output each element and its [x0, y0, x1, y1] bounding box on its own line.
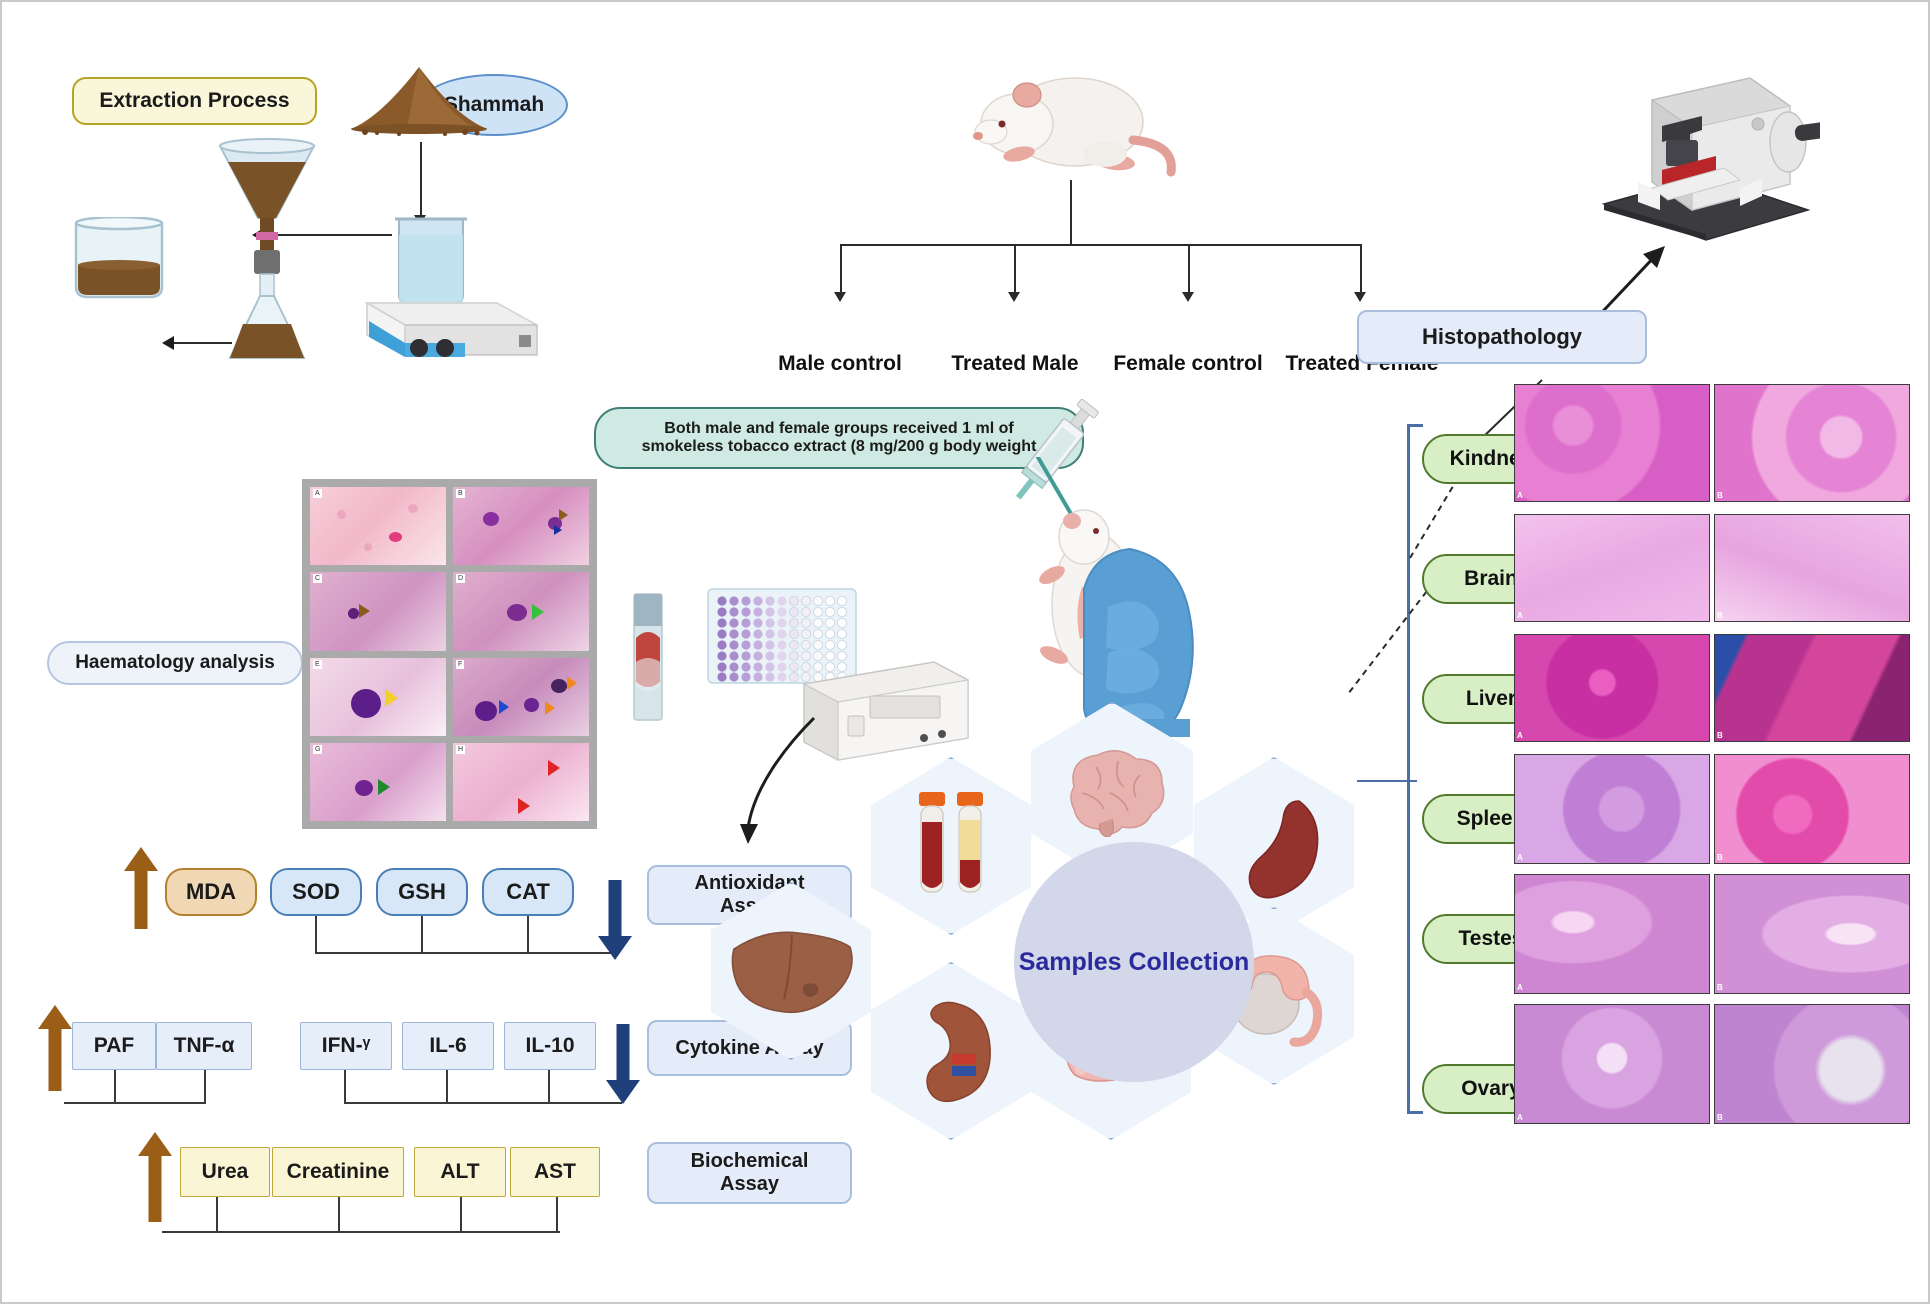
assay-node-creatinine: Creatinine	[272, 1147, 404, 1197]
biochem-stub-3	[460, 1197, 462, 1233]
histo-tile: A	[1514, 634, 1710, 742]
histo-tile: B	[1714, 384, 1910, 502]
cytokine-up-stub-2	[204, 1070, 206, 1104]
histo-tile: B	[1714, 634, 1910, 742]
up-arrow-brown-biochemical	[138, 1132, 172, 1222]
histo-tile-letter: B	[1717, 491, 1723, 500]
up-arrow-brown-antioxidant	[124, 847, 158, 929]
biochem-stub-4	[556, 1197, 558, 1233]
histo-tile-letter: A	[1517, 983, 1523, 992]
haematology-cell-letter: D	[456, 574, 465, 583]
haematology-cell-letter: E	[313, 660, 322, 669]
assay-node-ifn-gamma: IFN-ᵞ	[300, 1022, 392, 1070]
assay-node-ast: AST	[510, 1147, 600, 1197]
assay-node-label: CAT	[506, 879, 550, 904]
histo-tile-letter: A	[1517, 853, 1523, 862]
flask-to-beaker-arrow-head	[162, 336, 174, 350]
histo-tile-letter: B	[1717, 1113, 1723, 1122]
group-tree-trunk	[1070, 180, 1072, 244]
dosing-note-line1: Both male and female groups received 1 m…	[664, 420, 1013, 438]
magnetic-stirrer-hotplate-icon	[347, 217, 552, 362]
filter-funnel-icon	[202, 132, 332, 362]
blood-tubes-icon	[903, 786, 999, 906]
histo-tile: A	[1514, 384, 1710, 502]
assay-node-il6: IL-6	[402, 1022, 494, 1070]
group-branch-2-head	[1008, 292, 1020, 302]
shammah-arrow-shaft	[420, 142, 422, 217]
assay-node-label: Urea	[202, 1160, 249, 1184]
extraction-process-label: Extraction Process	[72, 77, 317, 125]
group-branch-4	[1360, 244, 1362, 294]
haematology-cell: A	[310, 487, 446, 565]
histo-row-testes: A B	[1514, 874, 1910, 994]
biochemical-assay-line2: Assay	[720, 1173, 779, 1196]
assay-node-label: SOD	[292, 879, 340, 904]
biochem-stub-1	[216, 1197, 218, 1233]
blood-collection-tube-icon	[628, 592, 668, 722]
histo-tile-letter: B	[1717, 611, 1723, 620]
haematology-cell: G	[310, 743, 446, 821]
histopathology-text: Histopathology	[1422, 324, 1582, 349]
group-label-female-control: Female control	[1112, 352, 1264, 376]
histo-tile-letter: B	[1717, 983, 1723, 992]
spleen-icon	[1219, 791, 1329, 901]
histopathology-label: Histopathology	[1357, 310, 1647, 364]
haematology-cell: F	[453, 658, 589, 736]
haematology-cell: H	[453, 743, 589, 821]
haematology-analysis-label: Haematology analysis	[47, 641, 303, 685]
group-branch-1	[840, 244, 842, 294]
organ-chip-label: Ovary	[1461, 1077, 1521, 1101]
assay-node-label: AST	[534, 1160, 576, 1184]
histo-tile: B	[1714, 874, 1910, 994]
gloved-hand-holding-rat-icon	[1012, 457, 1262, 737]
histo-tile-letter: A	[1517, 611, 1523, 620]
assay-node-sod: SOD	[270, 868, 362, 916]
flask-to-beaker-arrow-shaft	[174, 342, 232, 344]
haematology-cell: E	[310, 658, 446, 736]
sample-hex-blood	[862, 757, 1040, 935]
cytokine-up-bar	[64, 1102, 206, 1104]
kidney-icon	[896, 996, 1006, 1106]
beaker-icon	[64, 217, 174, 307]
group-tree-bar	[840, 244, 1360, 246]
histo-tile-letter: A	[1517, 491, 1523, 500]
organ-chip-label: Liver	[1466, 687, 1516, 711]
histo-tile: B	[1714, 514, 1910, 622]
reader-to-antioxidant-arrow	[692, 712, 822, 852]
liver-icon	[728, 923, 854, 1019]
antioxidant-bus-stub-3	[527, 916, 529, 954]
assay-node-cat: CAT	[482, 868, 574, 916]
antioxidant-bus-bar	[315, 952, 615, 954]
histo-tile: A	[1514, 1004, 1710, 1124]
haematology-cell-letter: A	[313, 489, 322, 498]
cytokine-up-stub-1	[114, 1070, 116, 1104]
samples-collection-center: Samples Collection	[1014, 842, 1254, 1082]
group-branch-3-head	[1182, 292, 1194, 302]
histo-tile: B	[1714, 754, 1910, 864]
biochem-stub-2	[338, 1197, 340, 1233]
assay-node-paf: PAF	[72, 1022, 156, 1070]
haematology-analysis-text: Haematology analysis	[75, 652, 275, 674]
brain-icon	[1052, 747, 1172, 837]
haematology-cell: D	[453, 572, 589, 650]
histo-tile-letter: B	[1717, 853, 1723, 862]
assay-node-label: IFN-ᵞ	[322, 1034, 370, 1058]
assay-node-label: GSH	[398, 879, 446, 904]
histo-tile: A	[1514, 874, 1710, 994]
assay-node-label: TNF-α	[174, 1034, 235, 1058]
haematology-cell: C	[310, 572, 446, 650]
haematology-cell-letter: H	[456, 745, 465, 754]
group-label-male-control: Male control	[772, 352, 908, 376]
haematology-cell-letter: C	[313, 574, 322, 583]
extraction-process-text: Extraction Process	[99, 89, 289, 113]
histo-tile: B	[1714, 1004, 1910, 1124]
haematology-cell-letter: F	[456, 660, 464, 669]
laboratory-rat-icon	[957, 62, 1187, 182]
haematology-panel: A B C D E F	[302, 479, 597, 829]
cytokine-down-bar	[344, 1102, 622, 1104]
assay-node-label: PAF	[94, 1034, 134, 1058]
histo-row-kidney: A B	[1514, 384, 1910, 502]
biochemical-assay-line1: Biochemical	[691, 1150, 809, 1173]
assay-node-il10: IL-10	[504, 1022, 596, 1070]
assay-node-gsh: GSH	[376, 868, 468, 916]
assay-node-label: ALT	[440, 1160, 479, 1184]
histo-tile: A	[1514, 514, 1710, 622]
cytokine-down-stub-1	[344, 1070, 346, 1104]
histo-row-spleen: A B	[1514, 754, 1910, 864]
microtome-icon	[1590, 64, 1820, 254]
figure-canvas: Extraction Process Shammah	[0, 0, 1930, 1304]
assay-node-label: Creatinine	[287, 1160, 390, 1184]
down-arrow-navy-cytokine	[606, 1024, 640, 1104]
group-label-treated-male: Treated Male	[940, 352, 1090, 376]
haematology-cell-letter: G	[313, 745, 322, 754]
histo-row-ovary: A B	[1514, 1004, 1910, 1124]
biochemical-assay-label: Biochemical Assay	[647, 1142, 852, 1204]
histo-tile-letter: A	[1517, 1113, 1523, 1122]
dosing-note-line2: smokeless tobacco extract (8 mg/200 g bo…	[642, 438, 1037, 456]
down-arrow-navy-antioxidant	[598, 880, 632, 960]
histo-row-liver: A B	[1514, 634, 1910, 742]
assay-node-label: IL-10	[525, 1034, 574, 1058]
group-branch-4-head	[1354, 292, 1366, 302]
histo-tile-letter: B	[1717, 731, 1723, 740]
biochem-bar	[162, 1231, 560, 1233]
antioxidant-bus-stub-2	[421, 916, 423, 954]
assay-node-label: MDA	[186, 879, 236, 904]
assay-node-alt: ALT	[414, 1147, 506, 1197]
histo-row-brain: A B	[1514, 514, 1910, 622]
haematology-cell-letter: B	[456, 489, 465, 498]
assay-node-urea: Urea	[180, 1147, 270, 1197]
haematology-cell: B	[453, 487, 589, 565]
assay-node-label: IL-6	[429, 1034, 466, 1058]
assay-node-mda: MDA	[165, 868, 257, 916]
histo-tile-letter: A	[1517, 731, 1523, 740]
sample-hex-kidney	[862, 962, 1040, 1140]
group-branch-3	[1188, 244, 1190, 294]
up-arrow-brown-cytokine	[38, 1005, 72, 1091]
antioxidant-bus-stub-1	[315, 916, 317, 954]
samples-collection-label: Samples Collection	[1019, 948, 1250, 977]
organ-chip-label: Brain	[1464, 567, 1518, 591]
histo-tile: A	[1514, 754, 1710, 864]
assay-node-tnf-alpha: TNF-α	[156, 1022, 252, 1070]
tobacco-powder-icon	[347, 64, 492, 136]
cytokine-down-stub-2	[446, 1070, 448, 1104]
group-branch-1-head	[834, 292, 846, 302]
cytokine-down-stub-3	[548, 1070, 550, 1104]
group-branch-2	[1014, 244, 1016, 294]
